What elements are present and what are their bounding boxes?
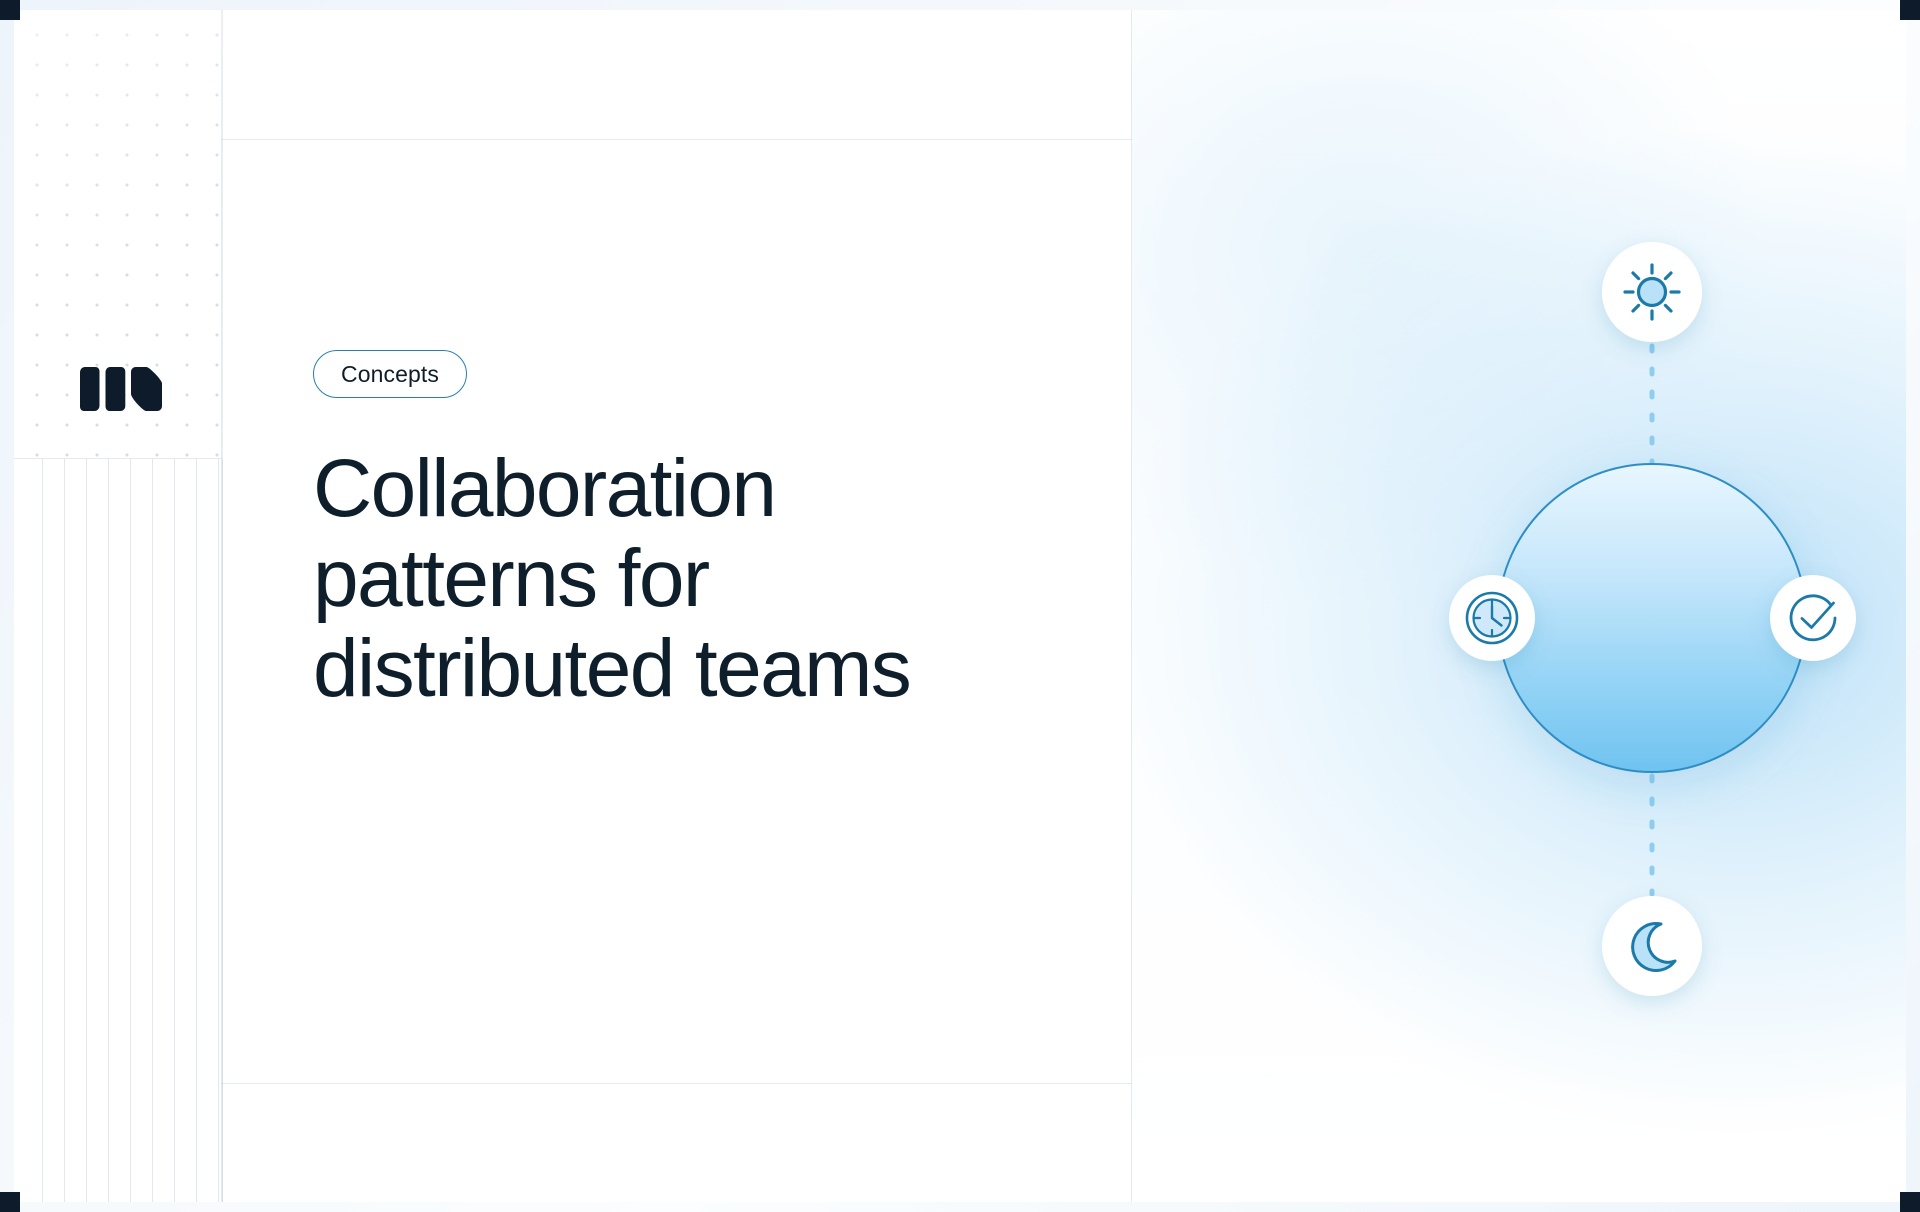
slide-canvas: Concepts Collaboration patterns for dist…: [0, 0, 1920, 1212]
node-sun: [1602, 242, 1702, 342]
collaboration-diagram: [1132, 10, 1906, 1202]
vertical-stripes-pattern: [42, 459, 223, 1202]
corner-marker-top-left: [0, 0, 20, 20]
decorative-rail: [14, 10, 222, 1202]
sun-icon: [1625, 265, 1679, 319]
corner-marker-bottom-right: [1900, 1192, 1920, 1212]
hero-content: Concepts Collaboration patterns for dist…: [313, 350, 1073, 715]
hub-circle: [1498, 464, 1806, 772]
node-clock: [1449, 575, 1535, 661]
node-check: [1770, 575, 1856, 661]
illustration-panel: [1132, 10, 1906, 1202]
category-badge[interactable]: Concepts: [313, 350, 467, 398]
corner-marker-top-right: [1900, 0, 1920, 20]
stacked-parallelograms-logo[interactable]: [76, 358, 166, 420]
corner-marker-bottom-left: [0, 1192, 20, 1212]
slide-card: Concepts Collaboration patterns for dist…: [14, 10, 1906, 1202]
page-title: Collaboration patterns for distributed t…: [313, 444, 1073, 715]
clock-icon: [1467, 593, 1517, 643]
node-moon: [1602, 896, 1702, 996]
